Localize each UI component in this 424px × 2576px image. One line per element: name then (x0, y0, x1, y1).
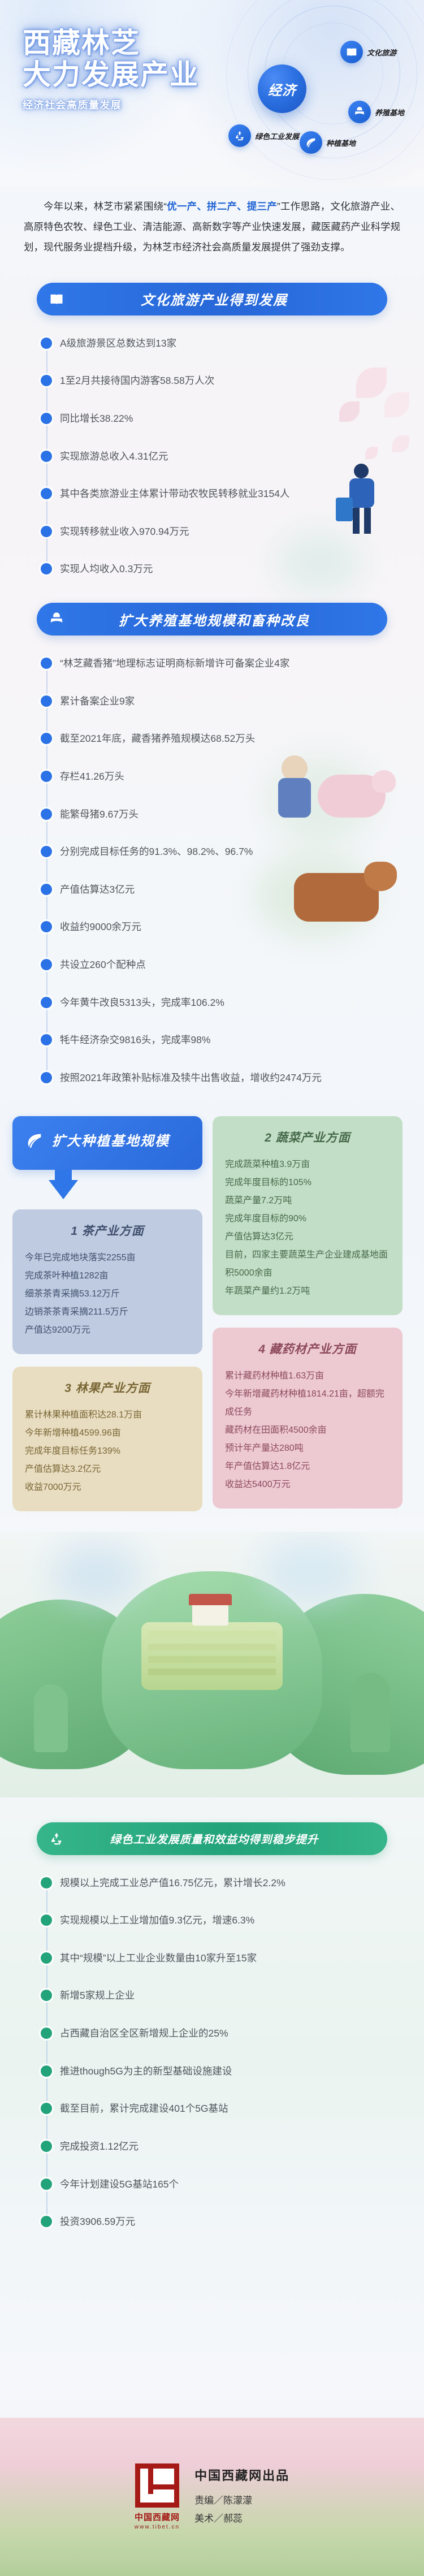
card-line: 今年新增种植4599.96亩 (25, 1424, 190, 1442)
planting-header-title: 扩大种植基地规模 (52, 1132, 170, 1151)
orbit-node-label: 养殖基地 (375, 107, 404, 118)
planting-right-column: 2 蔬菜产业方面 完成蔬菜种植3.9万亩 完成年度目标的105% 蔬菜产量7.2… (213, 1116, 403, 1509)
list-item-text: 牦牛经济杂交9816头，完成率98% (60, 1031, 377, 1049)
planting-left-column: 扩大种植基地规模 1 茶产业方面 今年已完成地块落实2255亩 完成茶叶种植12… (12, 1116, 202, 1511)
arrow-down-icon (49, 1180, 78, 1199)
orbit-node-planting-base: 种植基地 (300, 131, 356, 154)
list-item: 今年计划建设5G基站165个 (41, 2176, 424, 2193)
card-line: 完成年度目标任务139% (25, 1442, 190, 1460)
footer: 中国西藏网 www.tibet.cn 中国西藏网出品 责编／陈濛濛 美术／郝蕊 (0, 2418, 424, 2576)
list-item: 今年黄牛改良5313头，完成率106.2% (41, 994, 424, 1012)
list-item: 新增5家规上企业 (41, 1987, 424, 2004)
list-item: 推进though5G为主的新型基础设施建设 (41, 2063, 424, 2080)
bullet-dot-icon (41, 1914, 52, 1926)
list-item-text: 共设立260个配种点 (60, 956, 377, 974)
card-tibetan-medicine-industry: 4 藏药材产业方面 累计藏药材种植1.63万亩 今年新增藏药材种植1814.21… (213, 1328, 403, 1509)
list-item-text: “林芝藏香猪”地理标志证明商标新增许可备案企业4家 (60, 655, 377, 672)
list-item: 完成投资1.12亿元 (41, 2138, 424, 2155)
card-line: 累计林果种植面积达28.1万亩 (25, 1406, 190, 1424)
page-title: 西藏林芝 大力发展产业 (23, 27, 199, 90)
bullet-dot-icon (41, 338, 52, 349)
list-item: 实现人均收入0.3万元 (41, 560, 424, 578)
bullet-dot-icon (41, 451, 52, 462)
section-title: 扩大养殖基地规模和畜种改良 (76, 610, 387, 629)
card-line: 完成蔬菜种植3.9万亩 (225, 1156, 390, 1174)
list-item: 实现旅游总收入4.31亿元 (41, 448, 424, 465)
card-line: 细茶茶青采摘53.12万斤 (25, 1285, 190, 1303)
bullet-list-breeding-base: “林芝藏香猪”地理标志证明商标新增许可备案企业4家 累计备案企业9家 截至202… (41, 655, 424, 1087)
card-line: 今年已完成地块落实2255亩 (25, 1249, 190, 1267)
card-line: 年产值估算达1.8亿元 (225, 1458, 390, 1476)
list-item: 投资3906.59万元 (41, 2213, 424, 2231)
list-item: 产值估算达3亿元 (41, 881, 424, 898)
list-item-text: 实现旅游总收入4.31亿元 (60, 448, 377, 465)
bullet-dot-icon (41, 809, 52, 820)
bullet-dot-icon (41, 1034, 52, 1045)
card-line: 累计藏药材种植1.63万亩 (225, 1367, 390, 1385)
planting-section: 扩大种植基地规模 1 茶产业方面 今年已完成地块落实2255亩 完成茶叶种植12… (12, 1116, 412, 1511)
orbit-node-label: 绿色工业发展 (255, 131, 299, 141)
card-line: 完成茶叶种植1282亩 (25, 1267, 190, 1285)
card-line: 产值估算达3.2亿元 (25, 1460, 190, 1479)
list-item-text: 规模以上完成工业总产值16.75亿元，累计增长2.2% (60, 1874, 377, 1892)
bullet-dot-icon (41, 2179, 52, 2190)
bullet-dot-icon (41, 413, 52, 424)
bullet-dot-icon (41, 733, 52, 744)
title-line-2: 大力发展产业 (23, 59, 199, 90)
mountain-illustration (0, 1532, 424, 1797)
bullet-dot-icon (41, 1072, 52, 1083)
arrow-stem (55, 1170, 72, 1180)
list-item-text: 同比增长38.22% (60, 410, 377, 427)
section-title: 绿色工业发展质量和效益均得到稳步提升 (76, 1830, 387, 1847)
section-title: 文化旅游产业得到发展 (76, 289, 387, 309)
intro-paragraph: 今年以来，林芝市紧紧围绕“优一产、拼二产、提三产”工作思路，文化旅游产业、高原特… (24, 197, 400, 258)
list-item: 占西藏自治区全区新增规上企业的25% (41, 2025, 424, 2042)
editor-credit: 责编／陈濛濛 (194, 2492, 289, 2510)
bullet-dot-icon (41, 1990, 52, 2001)
logo-url: www.tibet.cn (135, 2524, 180, 2530)
list-item-text: 累计备案企业9家 (60, 693, 377, 710)
list-item-text: 完成投资1.12亿元 (60, 2138, 377, 2155)
footer-credits: 中国西藏网出品 责编／陈濛濛 美术／郝蕊 (194, 2466, 289, 2529)
bullet-dot-icon (41, 488, 52, 499)
bullet-dot-icon (41, 526, 52, 537)
list-item-text: 其中“规模”以上工业企业数量由10家升至15家 (60, 1950, 377, 1967)
list-item: 截至目前，累计完成建设401个5G基站 (41, 2100, 424, 2117)
card-line: 预计年产量达280吨 (225, 1440, 390, 1458)
bullet-dot-icon (41, 771, 52, 782)
card-line: 目前，四家主要蔬菜生产企业建成基地面积5000余亩 (225, 1246, 390, 1282)
list-item-text: 按照2021年政策补贴标准及犊牛出售收益，增收约2474万元 (60, 1069, 377, 1087)
art-credit: 美术／郝蕊 (194, 2510, 289, 2528)
orbit-core-economy: 经济 (258, 64, 306, 113)
orbit-node-green-industry: 绿色工业发展 (228, 124, 299, 147)
bullet-dot-icon (41, 959, 52, 970)
orbit-node-culture-tourism: 文化旅游 (340, 41, 396, 63)
tibet-net-logo: 中国西藏网 www.tibet.cn (135, 2463, 180, 2530)
card-title: 1 茶产业方面 (25, 1222, 190, 1239)
leaf-icon (25, 1131, 44, 1153)
infographic-page: 经济 文化旅游 养殖基地 种植基地 (0, 0, 424, 2576)
section-header-culture-tourism: 文化旅游产业得到发展 (37, 283, 387, 315)
orbit-core-label: 经济 (268, 79, 296, 99)
bullet-dot-icon (41, 1877, 52, 1888)
list-item-text: 分别完成目标任务的91.3%、98.2%、96.7% (60, 843, 377, 861)
bullet-dot-icon (41, 375, 52, 386)
list-item: 其中“规模”以上工业企业数量由10家升至15家 (41, 1950, 424, 1967)
list-item-text: 截至2021年底，藏香猪养殖规模达68.52万头 (60, 730, 377, 747)
card-title: 3 林果产业方面 (25, 1379, 190, 1396)
list-item-text: 今年黄牛改良5313头，完成率106.2% (60, 994, 377, 1012)
orbit-node-label: 文化旅游 (367, 47, 396, 58)
card-line: 产值达9200万元 (25, 1321, 190, 1339)
bullet-dot-icon (41, 658, 52, 669)
list-item-text: 能繁母猪9.67万头 (60, 806, 377, 823)
list-item-text: 新增5家规上企业 (60, 1987, 377, 2004)
title-block: 西藏林芝 大力发展产业 经济社会高质量发展 (23, 27, 199, 112)
leaf-icon (300, 131, 322, 154)
list-item: 同比增长38.22% (41, 410, 424, 427)
section-header-green-industry: 绿色工业发展质量和效益均得到稳步提升 (37, 1822, 387, 1855)
list-item-text: 推进though5G为主的新型基础设施建设 (60, 2063, 377, 2080)
list-item: A级旅游景区总数达到13家 (41, 335, 424, 352)
orbit-diagram: 经济 文化旅游 养殖基地 种植基地 (237, 0, 424, 164)
card-line: 收益7000万元 (25, 1479, 190, 1497)
title-line-1: 西藏林芝 (23, 27, 140, 59)
list-item: “林芝藏香猪”地理标志证明商标新增许可备案企业4家 (41, 655, 424, 672)
card-line: 藏药材在田面积4500余亩 (225, 1421, 390, 1440)
card-forest-fruit-industry: 3 林果产业方面 累计林果种植面积达28.1万亩 今年新增种植4599.96亩 … (12, 1367, 202, 1511)
list-item: 实现规模以上工业增加值9.3亿元，增速6.3% (41, 1912, 424, 1929)
card-line: 蔬菜产量7.2万吨 (225, 1192, 390, 1210)
list-item: 按照2021年政策补贴标准及犊牛出售收益，增收约2474万元 (41, 1069, 424, 1087)
list-item: 收益约9000余万元 (41, 918, 424, 936)
list-item-text: A级旅游景区总数达到13家 (60, 335, 377, 352)
card-line: 今年新增藏药材种植1814.21亩，超额完成任务 (225, 1385, 390, 1421)
bullet-dot-icon (41, 921, 52, 932)
bullet-dot-icon (41, 2103, 52, 2114)
page-subtitle: 经济社会高质量发展 (23, 97, 199, 112)
list-item-text: 实现转移就业收入970.94万元 (60, 523, 377, 541)
list-item-text: 今年计划建设5G基站165个 (60, 2176, 377, 2193)
list-item: 规模以上完成工业总产值16.75亿元，累计增长2.2% (41, 1874, 424, 1892)
bullet-list-green-industry: 规模以上完成工业总产值16.75亿元，累计增长2.2% 实现规模以上工业增加值9… (41, 1874, 424, 2231)
book-icon (340, 41, 363, 63)
recycle-icon (228, 124, 251, 147)
list-item-text: 存栏41.26万头 (60, 768, 377, 785)
list-item: 截至2021年底，藏香猪养殖规模达68.52万头 (41, 730, 424, 747)
card-line: 收益达5400万元 (225, 1476, 390, 1494)
list-item: 实现转移就业收入970.94万元 (41, 523, 424, 541)
list-item: 累计备案企业9家 (41, 693, 424, 710)
list-item: 能繁母猪9.67万头 (41, 806, 424, 823)
barn-icon (37, 611, 76, 627)
card-title: 4 藏药材产业方面 (225, 1340, 390, 1357)
list-item: 共设立260个配种点 (41, 956, 424, 974)
produced-by: 中国西藏网出品 (194, 2466, 289, 2484)
bullet-dot-icon (41, 997, 52, 1008)
list-item-text: 投资3906.59万元 (60, 2213, 377, 2231)
list-item-text: 实现规模以上工业增加值9.3亿元，增速6.3% (60, 1912, 377, 1929)
orbit-node-label: 种植基地 (326, 137, 356, 148)
book-icon (37, 291, 76, 307)
logo-text: 中国西藏网 (135, 2511, 180, 2523)
card-line: 完成年度目标的105% (225, 1174, 390, 1192)
recycle-icon (37, 1831, 76, 1847)
list-item-text: 1至2月共接待国内游客58.58万人次 (60, 372, 377, 390)
barn-icon (348, 101, 371, 123)
list-item-text: 实现人均收入0.3万元 (60, 560, 377, 578)
orbit-node-breeding-base: 养殖基地 (348, 101, 404, 123)
planting-header-card: 扩大种植基地规模 (12, 1116, 202, 1170)
card-line: 边销茶茶青采摘211.5万斤 (25, 1303, 190, 1321)
card-vegetable-industry: 2 蔬菜产业方面 完成蔬菜种植3.9万亩 完成年度目标的105% 蔬菜产量7.2… (213, 1116, 403, 1315)
list-item-text: 占西藏自治区全区新增规上企业的25% (60, 2025, 377, 2042)
list-item: 1至2月共接待国内游客58.58万人次 (41, 372, 424, 390)
card-line: 完成年度目标的90% (225, 1210, 390, 1228)
bullet-dot-icon (41, 846, 52, 857)
intro-highlight: 优一产、拼二产、提三产 (167, 201, 277, 212)
bullet-dot-icon (41, 563, 52, 574)
list-item: 存栏41.26万头 (41, 768, 424, 785)
intro-pre: 今年以来，林芝市紧紧围绕 (44, 201, 163, 212)
card-tea-industry: 1 茶产业方面 今年已完成地块落实2255亩 完成茶叶种植1282亩 细茶茶青采… (12, 1209, 202, 1354)
bullet-dot-icon (41, 1952, 52, 1964)
bullet-dot-icon (41, 695, 52, 707)
list-item-text: 截至目前，累计完成建设401个5G基站 (60, 2100, 377, 2117)
list-item-text: 产值估算达3亿元 (60, 881, 377, 898)
list-item-text: 收益约9000余万元 (60, 918, 377, 936)
header: 经济 文化旅游 养殖基地 种植基地 (0, 0, 424, 187)
bullet-dot-icon (41, 2065, 52, 2077)
list-item: 分别完成目标任务的91.3%、98.2%、96.7% (41, 843, 424, 861)
bullet-list-culture-tourism: A级旅游景区总数达到13家 1至2月共接待国内游客58.58万人次 同比增长38… (41, 335, 424, 578)
section-header-breeding-base: 扩大养殖基地规模和畜种改良 (37, 603, 387, 636)
bullet-dot-icon (41, 884, 52, 895)
card-line: 产值估算达3亿元 (225, 1228, 390, 1246)
card-title: 2 蔬菜产业方面 (225, 1129, 390, 1146)
list-item: 牦牛经济杂交9816头，完成率98% (41, 1031, 424, 1049)
card-line: 年蔬菜产量约1.2万吨 (225, 1282, 390, 1300)
bullet-dot-icon (41, 2028, 52, 2039)
bullet-dot-icon (41, 2141, 52, 2152)
list-item: 其中各类旅游业主体累计带动农牧民转移就业3154人 (41, 485, 424, 503)
logo-mark-icon (135, 2463, 179, 2508)
bullet-dot-icon (41, 2216, 52, 2227)
list-item-text: 其中各类旅游业主体累计带动农牧民转移就业3154人 (60, 485, 377, 503)
